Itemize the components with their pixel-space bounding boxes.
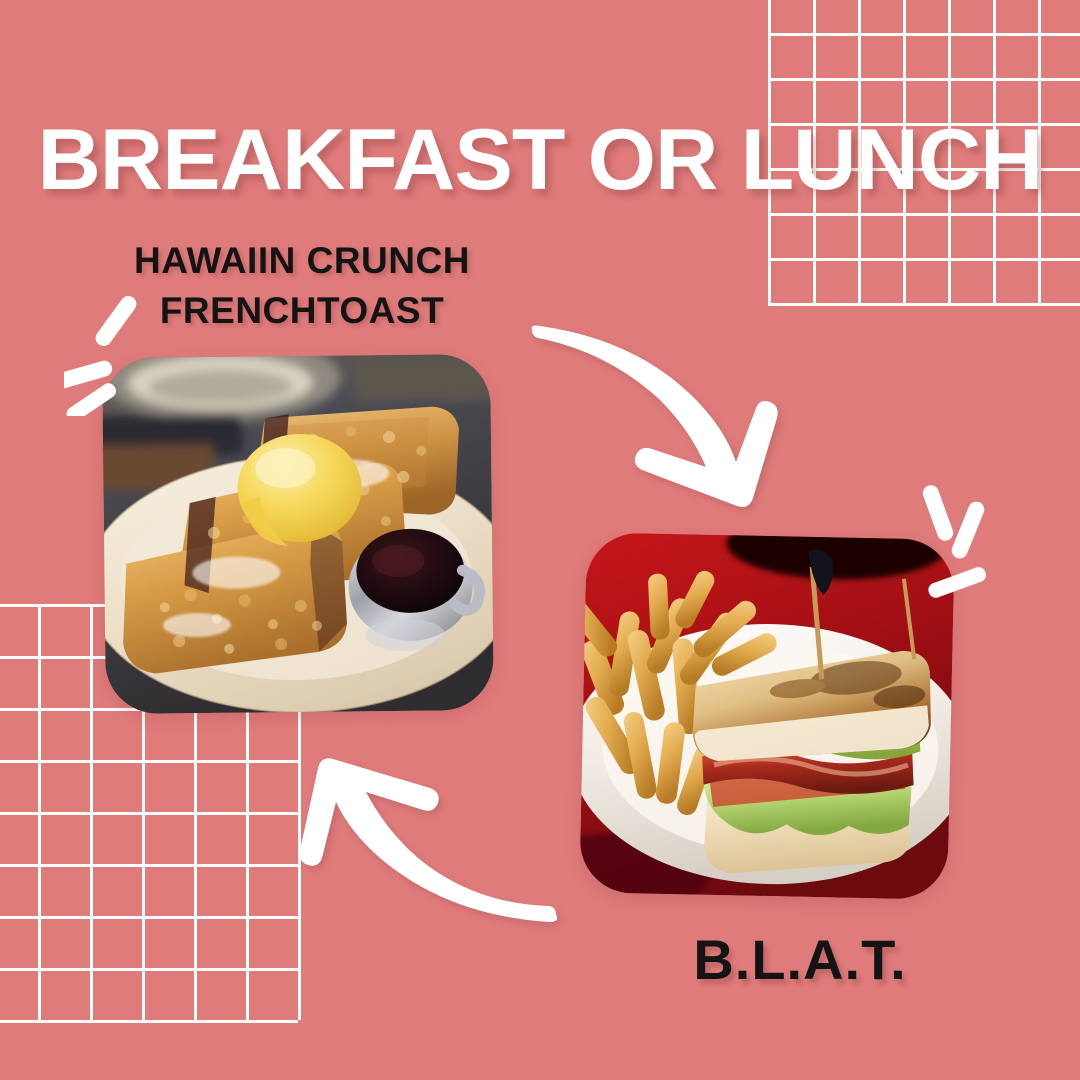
right-item-photo [579,532,954,900]
grid-line-horizontal [768,33,1080,36]
grid-line-horizontal [768,213,1080,216]
grid-line-horizontal [0,812,298,815]
poster-canvas: BREAKFAST OR LUNCH HAWAIIN CRUNCH FRENCH… [0,0,1080,1080]
grid-line-horizontal [0,760,298,763]
grid-line-horizontal [768,258,1080,261]
grid-line-vertical [90,604,93,1020]
left-item-name-line1: HAWAIIN CRUNCH [62,236,542,286]
grid-line-horizontal [0,968,298,971]
arrow-down-right-icon [520,312,812,512]
right-item-name: B.L.A.T. [610,930,990,990]
left-item-name-line2: FRENCHTOAST [62,286,542,336]
left-item-name: HAWAIIN CRUNCH FRENCHTOAST [62,236,542,336]
arrow-up-left-icon [278,736,568,932]
grid-line-horizontal [0,916,298,919]
left-item-photo [102,354,494,714]
grid-line-vertical [38,604,41,1020]
grid-line-horizontal [768,78,1080,81]
grid-line-horizontal [768,303,1080,306]
grid-line-horizontal [0,1020,298,1023]
grid-line-horizontal [0,864,298,867]
page-title: BREAKFAST OR LUNCH [0,116,1080,204]
